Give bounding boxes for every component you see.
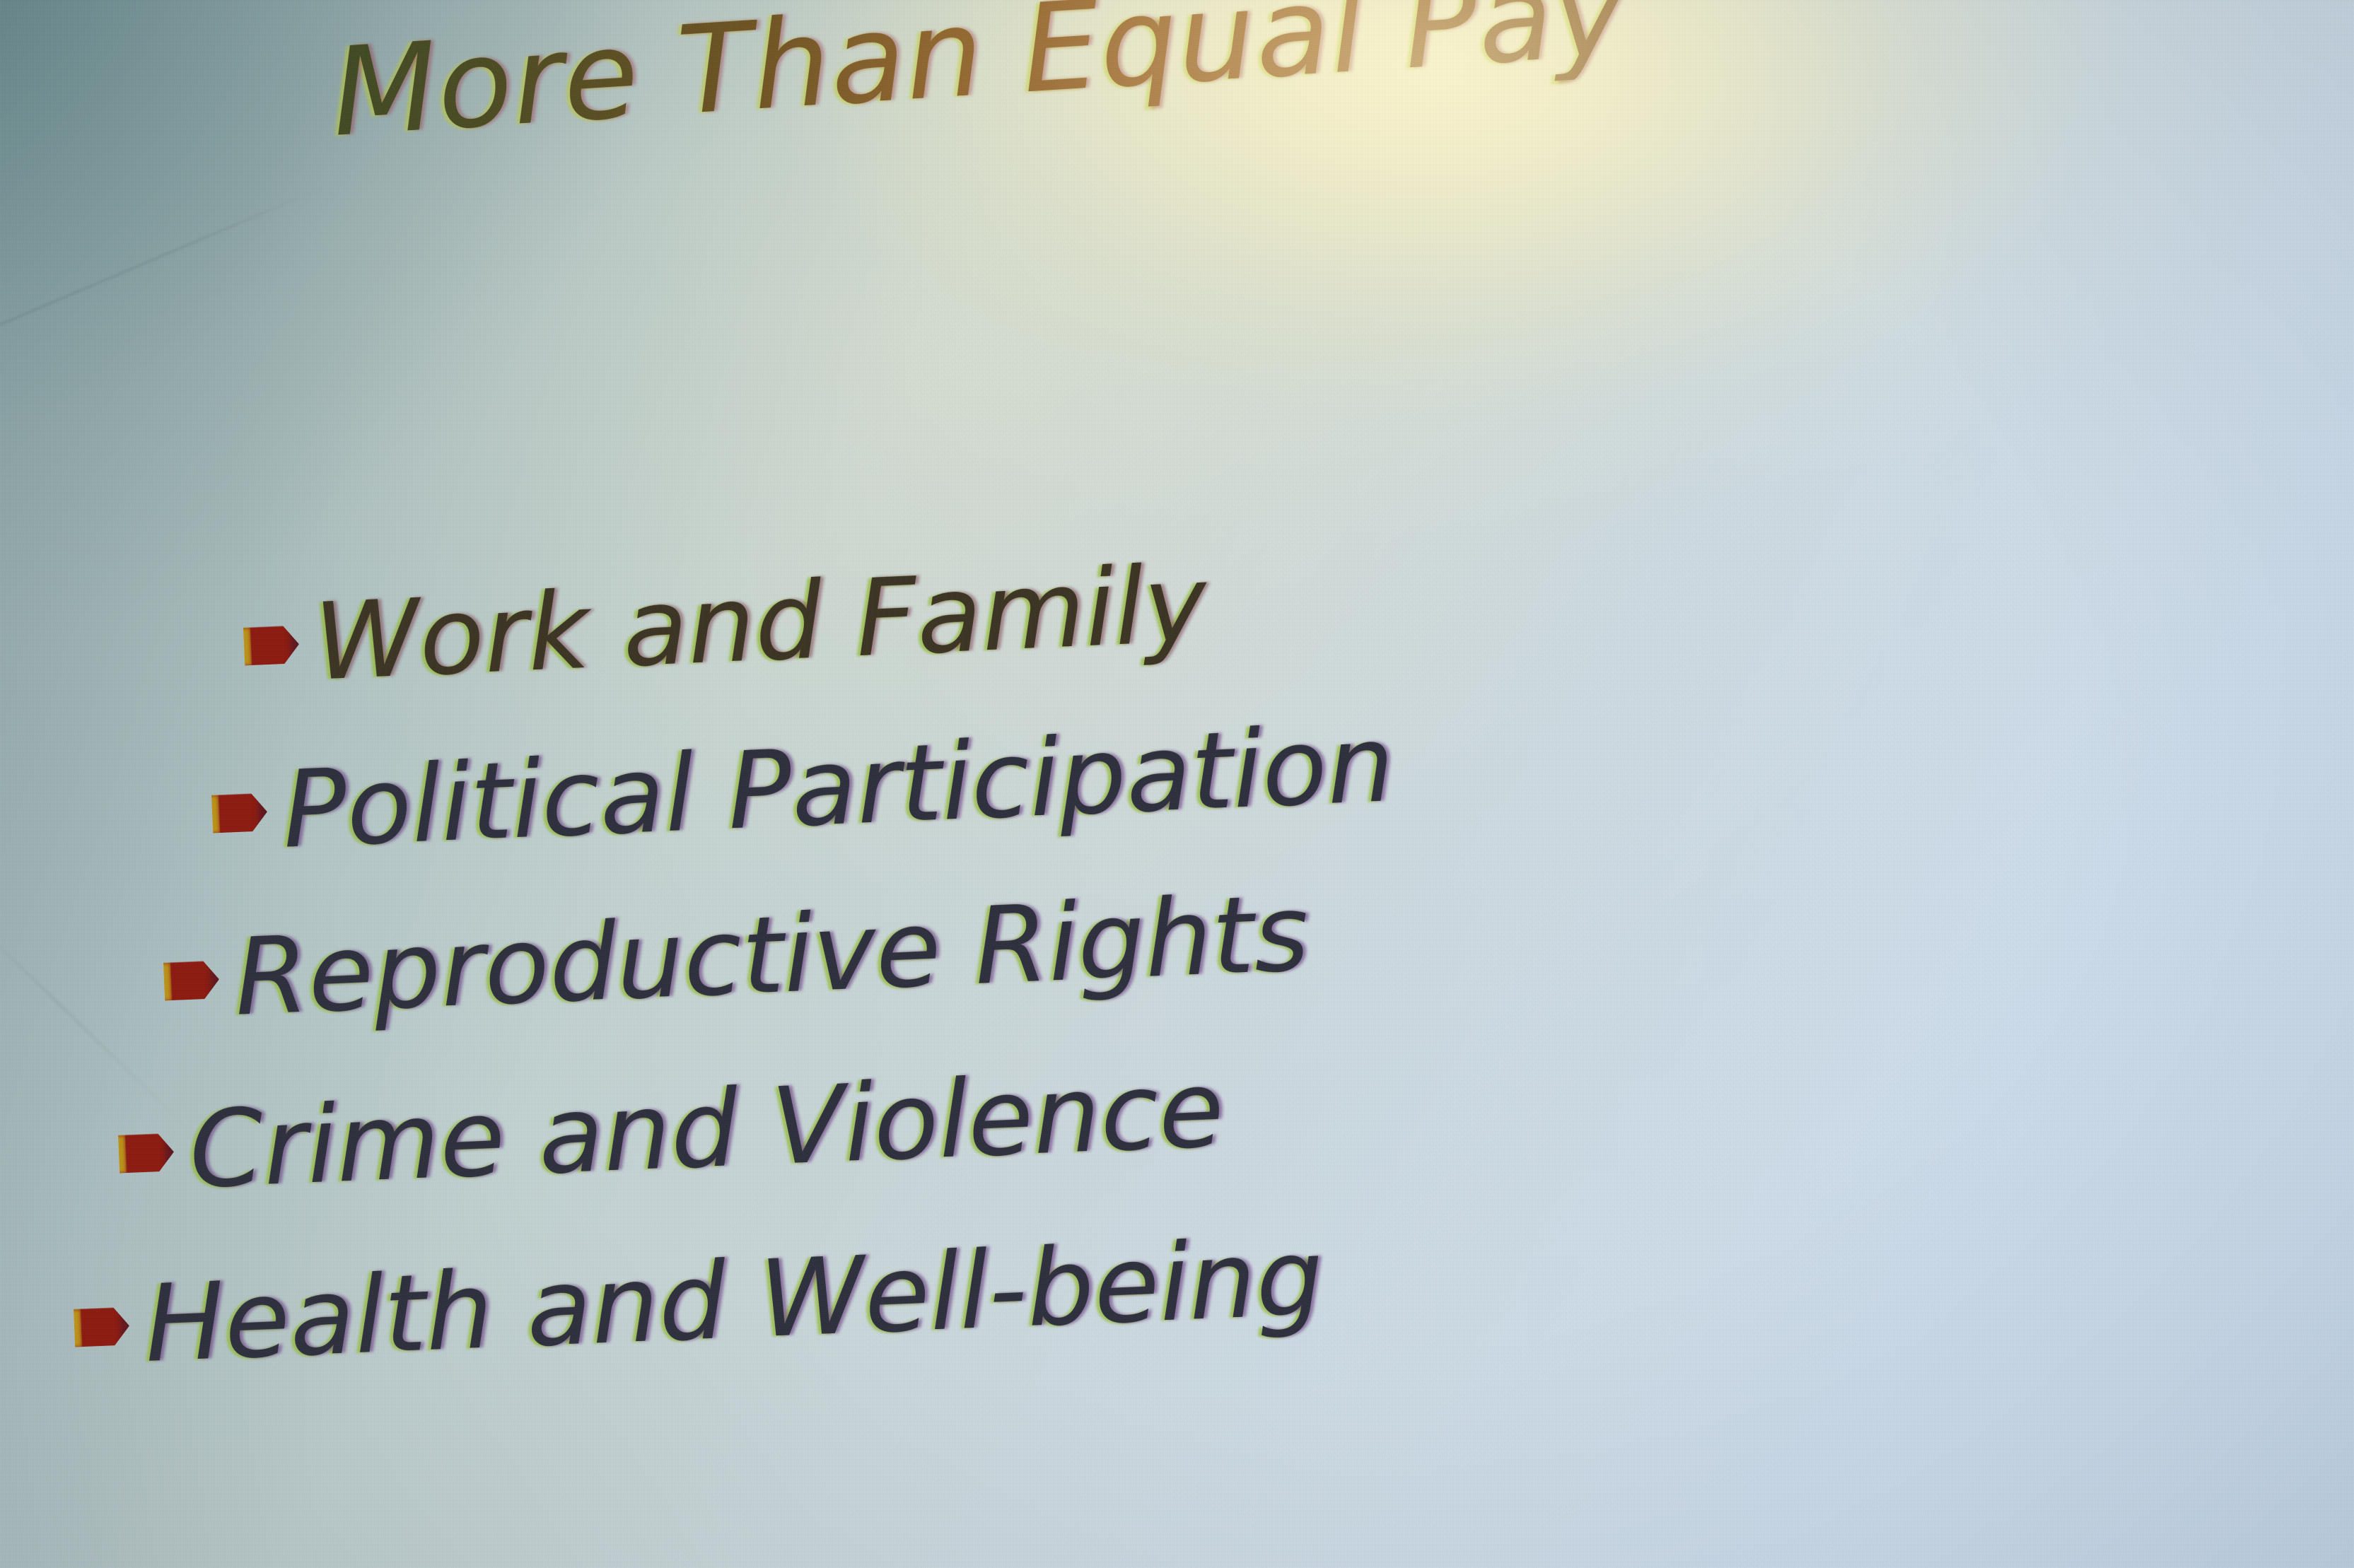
pentagon-arrow-bullet-icon [243, 625, 300, 665]
pentagon-arrow-bullet-icon [211, 792, 268, 833]
pentagon-arrow-bullet-icon [74, 1306, 130, 1347]
list-item-label: Political Participation [281, 710, 1397, 865]
pentagon-arrow-bullet-icon [118, 1133, 175, 1173]
list-item: Crime and Violence Crime and Violence Cr… [117, 1055, 1226, 1208]
list-item-label: Reproductive Rights [233, 879, 1311, 1033]
list-item-text-wrapper: Work and Family Work and Family Work and… [313, 551, 1209, 698]
list-item-label: Crime and Violence [187, 1055, 1226, 1205]
pentagon-arrow-bullet-icon [163, 960, 220, 1000]
projected-slide-photo: More Than Equal Pay More Than Equal Pay … [0, 0, 2354, 1568]
list-item: Political Participation Political Partic… [210, 710, 1397, 868]
list-item: Work and Family Work and Family Work and… [242, 551, 1209, 701]
list-item-text-wrapper: Health and Well-being Health and Well-be… [143, 1224, 1325, 1379]
list-item-text-wrapper: Crime and Violence Crime and Violence Cr… [187, 1055, 1226, 1205]
bullet-list: Work and Family Work and Family Work and… [0, 0, 2354, 1568]
list-item: Health and Well-being Health and Well-be… [72, 1224, 1325, 1382]
list-item-text-wrapper: Reproductive Rights Reproductive Rights … [233, 879, 1311, 1033]
slide-content: More Than Equal Pay More Than Equal Pay … [0, 0, 2354, 1568]
list-item-label: Health and Well-being [143, 1224, 1325, 1379]
list-item: Reproductive Rights Reproductive Rights … [162, 879, 1311, 1036]
list-item-text-wrapper: Political Participation Political Partic… [281, 710, 1397, 865]
list-item-label: Work and Family [313, 551, 1209, 698]
